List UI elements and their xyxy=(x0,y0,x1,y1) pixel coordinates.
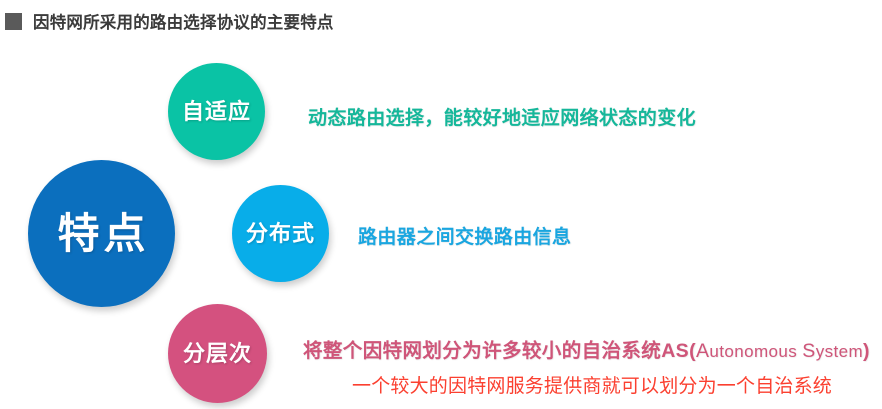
bubble-hierarchical-label: 分层次 xyxy=(183,343,252,365)
description-hierarchical-as-ystem: ystem xyxy=(816,342,863,361)
description-hierarchical-main: 将整个因特网划分为许多较小的自治系统AS xyxy=(303,340,689,362)
bubble-adaptive-label: 自适应 xyxy=(182,101,251,123)
description-hierarchical-paren-open: ( xyxy=(689,340,696,362)
description-hierarchical-sub: 一个较大的因特网服务提供商就可以划分为一个自治系统 xyxy=(352,371,832,398)
description-hierarchical-as-utonomous: utonomous xyxy=(709,342,802,361)
features-bubble-diagram: 特点 自适应 分布式 分层次 动态路由选择，能较好地适应网络状态的变化 路由器之… xyxy=(0,0,882,409)
description-hierarchical-as-a: A xyxy=(696,340,709,362)
bubble-distributed-label: 分布式 xyxy=(246,223,315,245)
description-hierarchical-as-s: S xyxy=(802,340,815,362)
description-distributed: 路由器之间交换路由信息 xyxy=(358,222,571,249)
description-hierarchical-paren-close: ) xyxy=(863,340,870,362)
bubble-hierarchical: 分层次 xyxy=(168,304,267,403)
bubble-core-features: 特点 xyxy=(28,160,175,307)
bubble-core-label: 特点 xyxy=(53,213,149,255)
bubble-adaptive: 自适应 xyxy=(168,63,265,160)
bubble-distributed: 分布式 xyxy=(232,185,329,282)
description-adaptive: 动态路由选择，能较好地适应网络状态的变化 xyxy=(308,103,696,130)
description-hierarchical: 将整个因特网划分为许多较小的自治系统AS(Autonomous System) xyxy=(303,334,870,363)
